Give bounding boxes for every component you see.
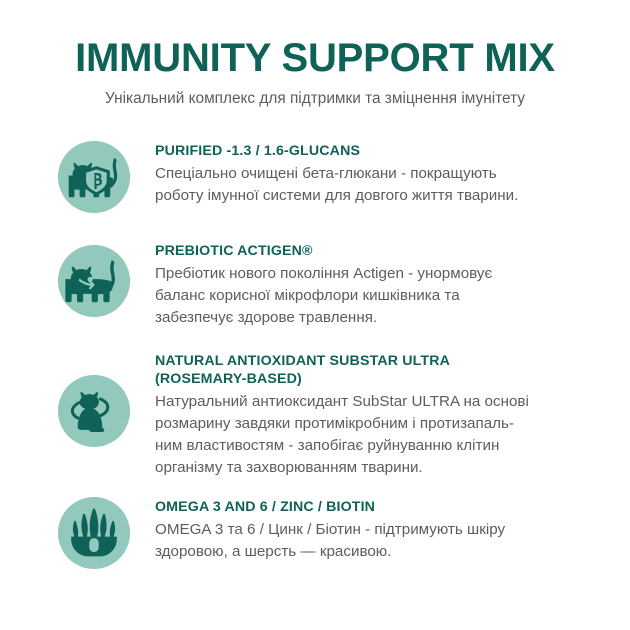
feature-icon-container [58, 375, 130, 447]
header: IMMUNITY SUPPORT MIX Унікальний комплекс… [0, 0, 630, 109]
feature-description: Пребіотик нового покоління Actigen - уно… [155, 263, 612, 329]
feature-description: Натуральний антиоксидант SubStar ULTRA н… [155, 391, 612, 479]
feature-icon-container [58, 245, 130, 317]
feature-description: Спеціально очищені бета-глюкани - покращ… [155, 163, 612, 207]
feature-item-antioxidant-substar: NATURAL ANTIOXIDANT SUBSTAR ULTRA (ROSEM… [58, 349, 612, 479]
feature-text-container: NATURAL ANTIOXIDANT SUBSTAR ULTRA (ROSEM… [155, 349, 612, 479]
feature-text-container: PURIFIED -1.3 / 1.6-GLUCANS Спеціально о… [155, 139, 612, 207]
feature-heading: PREBIOTIC ACTIGEN® [155, 242, 612, 260]
feature-item-prebiotic-actigen: PREBIOTIC ACTIGEN® Пребіотик нового поко… [58, 239, 612, 329]
feature-text-container: OMEGA 3 AND 6 / ZINC / BIOTIN OMEGA 3 та… [155, 495, 612, 563]
feature-item-omega-zinc-biotin: OMEGA 3 AND 6 / ZINC / BIOTIN OMEGA 3 та… [58, 495, 612, 569]
cat-digestion-arrow-icon [58, 245, 130, 317]
immunity-support-mix-infographic: IMMUNITY SUPPORT MIX Унікальний комплекс… [0, 0, 630, 630]
feature-icon-container [58, 141, 130, 213]
feature-icon-container [58, 497, 130, 569]
page-title: IMMUNITY SUPPORT MIX [0, 36, 630, 80]
feature-heading: OMEGA 3 AND 6 / ZINC / BIOTIN [155, 498, 612, 516]
feature-text-container: PREBIOTIC ACTIGEN® Пребіотик нового поко… [155, 239, 612, 329]
sitting-cat-swirl-icon [58, 375, 130, 447]
page-subtitle: Унікальний комплекс для підтримки та змі… [0, 89, 630, 109]
feature-heading: NATURAL ANTIOXIDANT SUBSTAR ULTRA (ROSEM… [155, 352, 612, 388]
hair-follicles-skin-icon [58, 497, 130, 569]
feature-heading: PURIFIED -1.3 / 1.6-GLUCANS [155, 142, 612, 160]
feature-item-purified-glucans: PURIFIED -1.3 / 1.6-GLUCANS Спеціально о… [58, 139, 612, 213]
feature-list: PURIFIED -1.3 / 1.6-GLUCANS Спеціально о… [0, 139, 630, 569]
feature-description: OMEGA 3 та 6 / Цинк / Біотин - підтримую… [155, 519, 612, 563]
cat-with-beta-shield-icon [58, 141, 130, 213]
